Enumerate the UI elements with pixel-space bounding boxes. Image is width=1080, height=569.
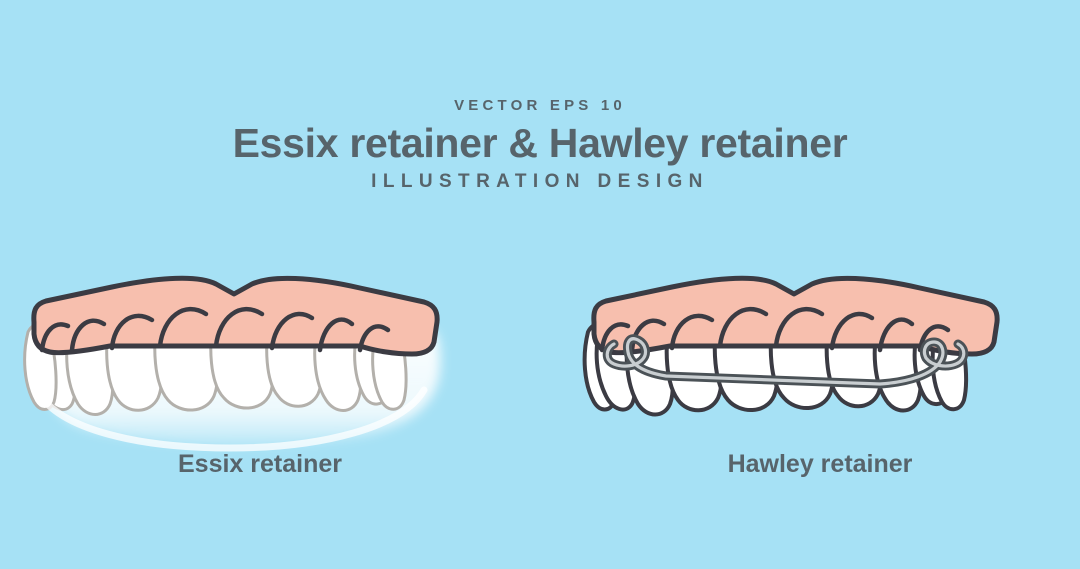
hawley-wire-retainer-illustration [580, 272, 1060, 462]
figure-essix-retainer [20, 272, 500, 462]
caption-essix-retainer: Essix retainer [20, 447, 500, 481]
kicker-text: VECTOR EPS 10 [0, 96, 1080, 116]
page-title: Essix retainer & Hawley retainer [0, 118, 1080, 168]
essix-clear-retainer-illustration [20, 272, 500, 462]
caption-hawley-retainer: Hawley retainer [580, 447, 1060, 481]
figure-hawley-retainer [580, 272, 1060, 462]
subtitle-text: ILLUSTRATION DESIGN [0, 169, 1080, 195]
illustration-canvas: VECTOR EPS 10 Essix retainer & Hawley re… [0, 0, 1080, 569]
heading-block: VECTOR EPS 10 Essix retainer & Hawley re… [0, 96, 1080, 195]
essix-gum [34, 278, 437, 354]
